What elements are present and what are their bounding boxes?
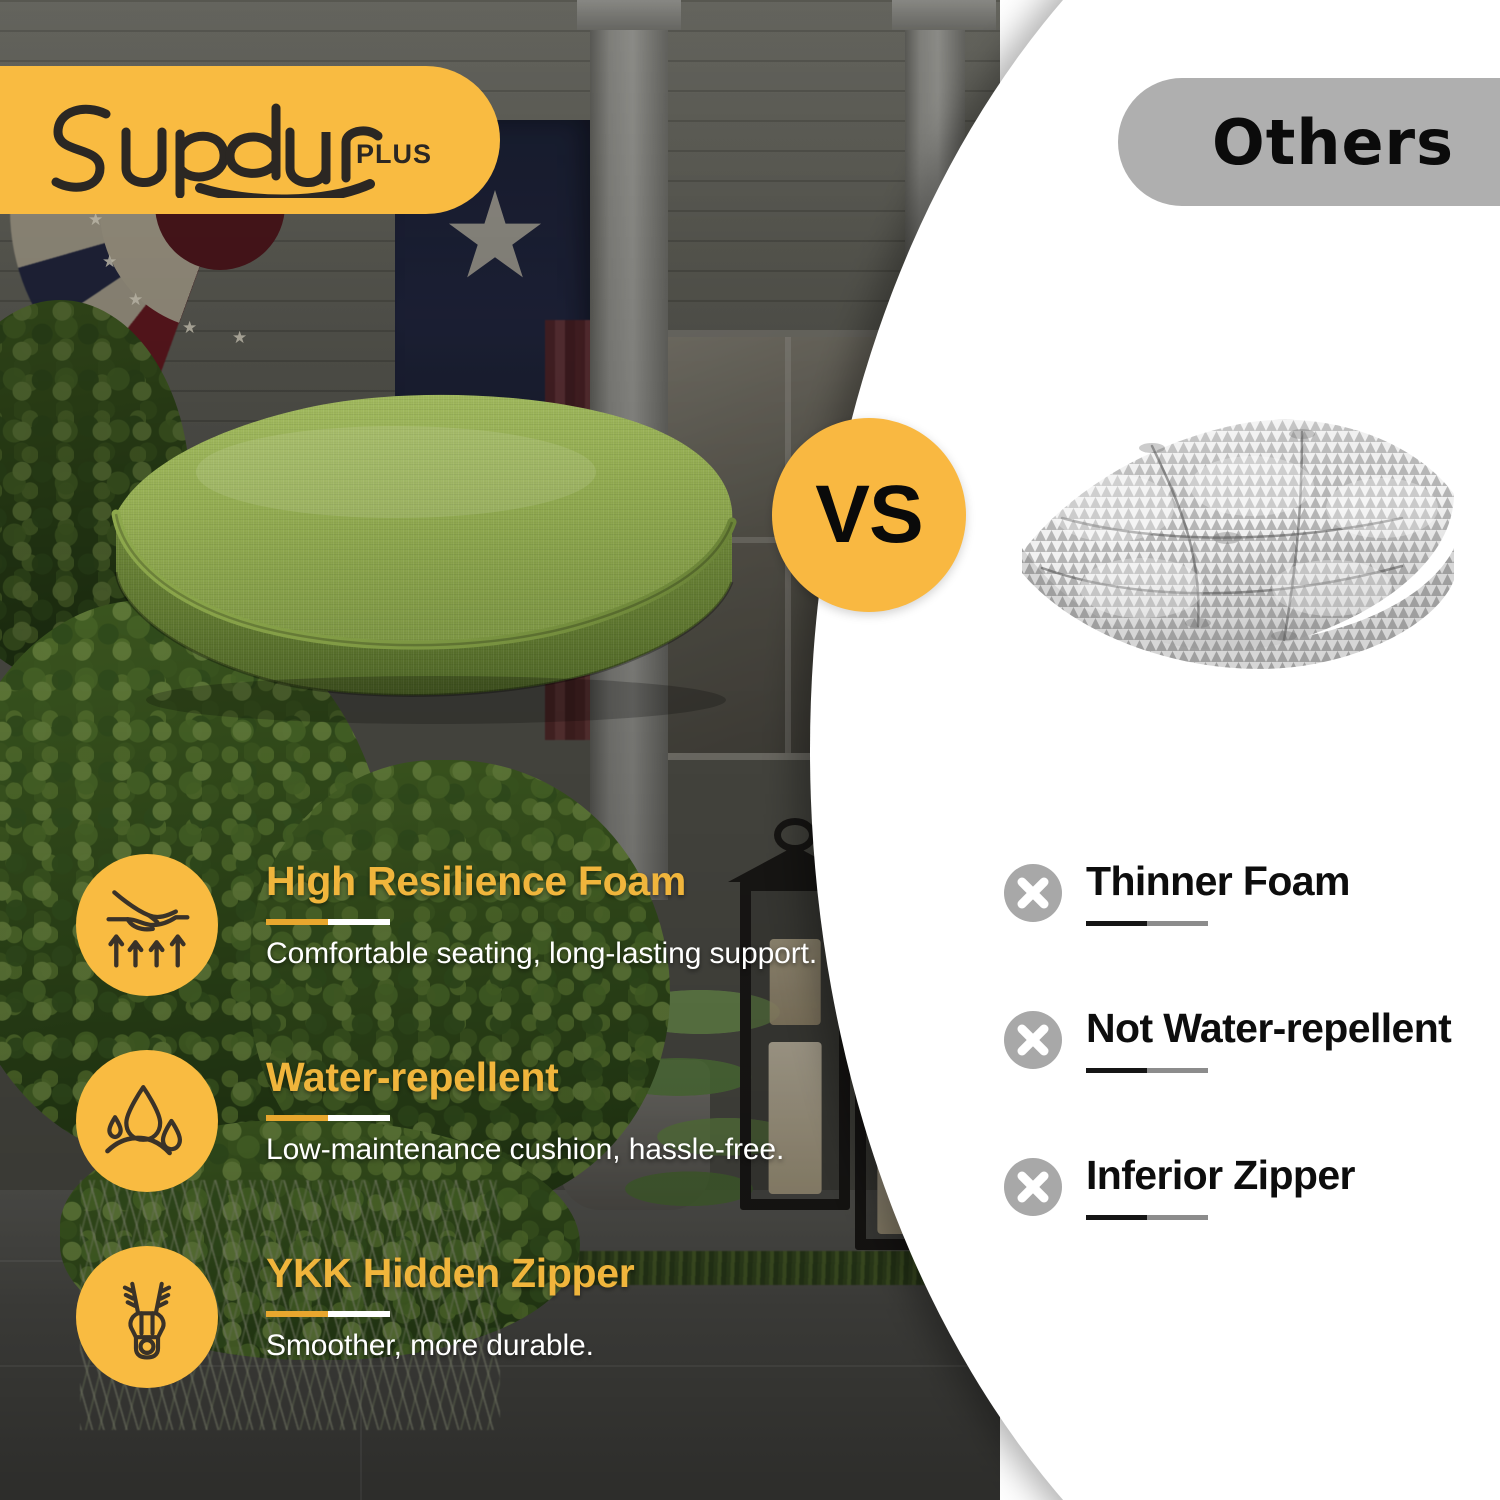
con-text: Not Water-repellent (1086, 1005, 1500, 1073)
con-divider (1086, 921, 1208, 926)
competitor-cons-list: Thinner Foam Not Water-repellent (1004, 858, 1500, 1299)
feature-item: Water-repellent Low-maintenance cushion,… (76, 1048, 816, 1244)
con-item: Not Water-repellent (1004, 1005, 1500, 1152)
feature-title: Water-repellent (266, 1054, 826, 1101)
feature-item: High Resilience Foam Comfortable seating… (76, 852, 816, 1048)
vs-badge: VS (772, 418, 966, 612)
x-circle-icon (1004, 864, 1062, 922)
con-title: Inferior Zipper (1086, 1152, 1500, 1199)
feature-divider (266, 919, 390, 925)
x-circle-icon (1004, 1011, 1062, 1069)
con-item: Thinner Foam (1004, 858, 1500, 1005)
feature-subtitle: Low-maintenance cushion, hassle-free. (266, 1133, 826, 1167)
feature-item: YKK Hidden Zipper Smoother, more durable… (76, 1244, 816, 1440)
feature-divider (266, 1311, 390, 1317)
feature-text: Water-repellent Low-maintenance cushion,… (266, 1054, 826, 1167)
others-label-pill: Others (1118, 78, 1500, 206)
con-text: Inferior Zipper (1086, 1152, 1500, 1220)
brand-logo: PLUS (40, 88, 440, 198)
infographic-canvas: ★ ★ ★ ★ ★ (0, 0, 1500, 1500)
feature-subtitle: Comfortable seating, long-lasting suppor… (266, 937, 826, 971)
feature-text: High Resilience Foam Comfortable seating… (266, 858, 826, 971)
feature-list: High Resilience Foam Comfortable seating… (76, 852, 816, 1440)
x-circle-icon (1004, 1158, 1062, 1216)
zipper-icon (76, 1246, 218, 1388)
con-item: Inferior Zipper (1004, 1152, 1500, 1299)
product-image-green-cushion (96, 382, 756, 742)
vs-label: VS (815, 468, 922, 562)
feature-text: YKK Hidden Zipper Smoother, more durable… (266, 1250, 826, 1363)
con-title: Thinner Foam (1086, 858, 1500, 905)
feature-title: YKK Hidden Zipper (266, 1250, 826, 1297)
feature-subtitle: Smoother, more durable. (266, 1329, 826, 1363)
con-divider (1086, 1068, 1208, 1073)
con-text: Thinner Foam (1086, 858, 1500, 926)
competitor-product-image (1002, 398, 1472, 698)
feature-divider (266, 1115, 390, 1121)
con-divider (1086, 1215, 1208, 1220)
con-title: Not Water-repellent (1086, 1005, 1500, 1052)
others-label: Others (1212, 106, 1454, 179)
hand-support-arrows-icon (76, 854, 218, 996)
brand-logo-pill: PLUS (0, 66, 500, 214)
water-droplet-repel-icon (76, 1050, 218, 1192)
feature-title: High Resilience Foam (266, 858, 826, 905)
brand-suffix: PLUS (356, 139, 432, 170)
